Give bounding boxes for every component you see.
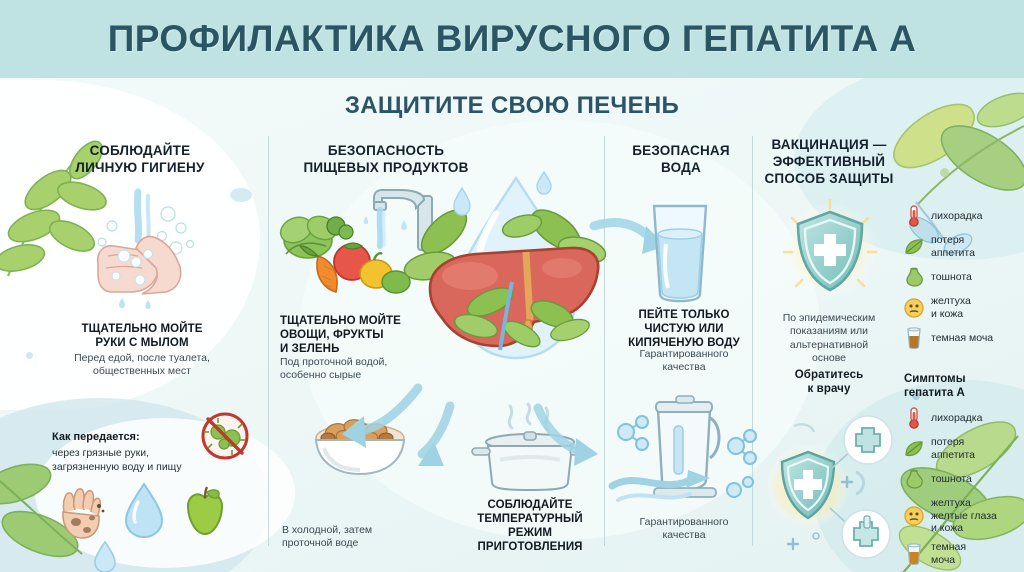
list-item-label: желтуха и кожа — [931, 295, 971, 320]
page-title: ПРОФИЛАКТИКА ВИРУСНОГО ГЕПАТИТА А — [108, 18, 917, 60]
glass-of-water-illustration — [638, 200, 722, 304]
list-item: желтуха и кожа — [904, 295, 1022, 320]
poster-subtitle: ЗАЩИТИТЕ СВОЮ ПЕЧЕНЬ — [0, 92, 1024, 120]
shield-cross-glow-illustration — [778, 196, 882, 304]
list-item-label: потеря аппетита — [931, 436, 975, 461]
thermometer-icon — [904, 406, 924, 430]
column-heading-line: БЕЗОПАСНАЯ — [614, 142, 748, 159]
list-item-label: лихорадка — [931, 412, 982, 425]
caption-cooking-temperature: СОБЛЮДАЙТЕ ТЕМПЕРАТУРНЫЙ РЕЖИМ ПРИГОТОВЛ… — [452, 498, 608, 554]
column-heading-line: ВОДА — [614, 159, 748, 176]
list-item-label: лихорадка — [931, 210, 982, 223]
list-item: лихорадка — [904, 406, 1024, 430]
caption-wash-hands: ТЩАТЕЛЬНО МОЙТЕ РУКИ С МЫЛОМ — [58, 322, 226, 350]
column-heading-line: СПОСОБ ЗАЩИТЫ — [758, 170, 900, 187]
list-item: тошнота — [904, 265, 1022, 289]
list-item: потеря аппетита — [904, 234, 1022, 259]
column-heading-line: ВАКЦИНАЦИЯ — — [758, 136, 900, 153]
transmission-title: Как передается: — [52, 430, 252, 445]
list-item-label: темная моча — [931, 541, 966, 566]
list-item: потеря аппетита — [904, 436, 1024, 461]
caption-wash-hands-sub: Перед едой, после туалета, общественных … — [44, 352, 240, 379]
symptoms-bottom-title: Симптомы гепатита А — [904, 372, 1022, 401]
dark-urine-icon — [904, 542, 924, 566]
transmission-text: через грязные руки, загрязненную воду и … — [52, 446, 252, 475]
caption-drink-clean-water-sub: Гарантированного качества — [610, 348, 758, 375]
decor-dot — [26, 352, 33, 359]
column-heading-line: БЕЗОПАСНОСТЬ — [278, 142, 494, 159]
stomach-icon — [904, 467, 924, 491]
caption-drink-clean-water: ПЕЙТЕ ТОЛЬКО ЧИСТУЮ ИЛИ КИПЯЧЕНУЮ ВОДУ — [610, 308, 758, 350]
dirty-hand-icon — [56, 484, 108, 542]
list-item: тошнота — [904, 467, 1024, 491]
vaccination-note: По эпидемическим показаниям или альтерна… — [756, 312, 902, 366]
vaccination-cta: Обратитесь к врачу — [756, 368, 902, 396]
jaundice-face-icon — [904, 504, 924, 528]
list-item-label: темная моча — [931, 332, 993, 345]
jaundice-face-icon — [904, 296, 924, 320]
column-heading-water: БЕЗОПАСНАЯ ВОДА — [614, 142, 748, 176]
column-heading-line: ЭФФЕКТИВНЫЙ — [758, 153, 900, 170]
column-heading-line: ЛИЧНУЮ ГИГИЕНУ — [40, 159, 240, 176]
dark-urine-icon — [904, 326, 924, 350]
caption-guaranteed-quality: Гарантированного качества — [610, 516, 758, 543]
water-drop-icon — [122, 482, 166, 540]
caption-soak-nuts-sub: В холодной, затем проточной воде — [282, 524, 468, 551]
list-item-label: тошнота — [931, 271, 972, 284]
list-item-label: потеря аппетита — [931, 234, 975, 259]
stomach-icon — [904, 265, 924, 289]
list-item: темная моча — [904, 326, 1022, 350]
column-heading-vaccination: ВАКЦИНАЦИЯ — ЭФФЕКТИВНЫЙ СПОСОБ ЗАЩИТЫ — [758, 136, 900, 187]
small-water-drop-icon — [92, 540, 118, 572]
poster-header: ПРОФИЛАКТИКА ВИРУСНОГО ГЕПАТИТА А — [0, 0, 1024, 78]
leaf-icon — [904, 235, 924, 259]
list-item: желтуха желтые глаза и кожа — [904, 497, 1024, 535]
decor-dot — [940, 168, 949, 177]
list-item-label: тошнота — [931, 473, 972, 486]
list-item-label: желтуха желтые глаза и кожа — [931, 497, 997, 535]
symptom-list-top: лихорадка потеря аппетита тошнота — [904, 204, 1022, 356]
list-item: темная моча — [904, 541, 1024, 566]
column-heading-hygiene: СОБЛЮДАЙТЕ ЛИЧНУЮ ГИГИЕНУ — [40, 142, 240, 176]
thermometer-icon — [904, 204, 924, 228]
poster-root: ПРОФИЛАКТИКА ВИРУСНОГО ГЕПАТИТА А ЗАЩИТИ… — [0, 0, 1024, 572]
symptom-list-bottom: лихорадка потеря аппетита тошнота — [904, 406, 1024, 572]
column-heading-line: СОБЛЮДАЙТЕ — [40, 142, 240, 159]
leaf-icon — [904, 437, 924, 461]
apple-icon — [178, 486, 232, 540]
shield-cross-vaccine-illustration — [760, 412, 900, 562]
water-molecule-illustration — [608, 412, 758, 508]
handwash-icon — [78, 192, 208, 310]
list-item: лихорадка — [904, 204, 1022, 228]
